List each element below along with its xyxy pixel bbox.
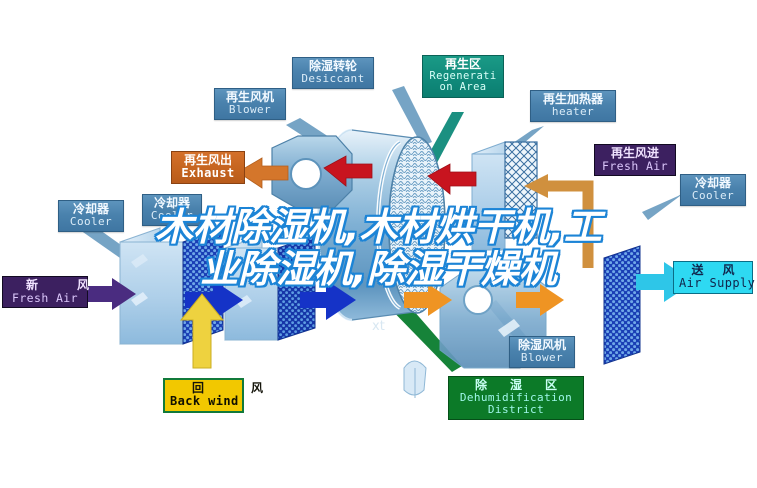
label-regen-heater-cn: 再生加热器 [536,93,610,106]
label-regen-fresh-air-in[interactable]: 再生风进 Fresh Air [594,144,676,176]
label-regen-blower-cn: 再生风机 [220,91,280,104]
label-cooler-right-cn: 冷却器 [686,177,740,190]
label-dehumidification-district[interactable]: 除 湿 区 Dehumidification District [448,376,584,420]
label-air-supply-cn: 送 风 [679,264,747,277]
label-regen-heater[interactable]: 再生加热器 heater [530,90,616,122]
label-regen-fresh-air-in-en: Fresh Air [600,160,670,172]
label-fresh-air-in-en: Fresh Air [8,292,82,304]
label-regen-blower[interactable]: 再生风机 Blower [214,88,286,120]
label-air-supply-en: Air Supply [679,277,747,290]
label-cooler-left[interactable]: 冷却器 Cooler [58,200,124,232]
label-dehum-blower-en: Blower [515,352,569,364]
label-desiccant-wheel-en: Desiccant [298,73,368,85]
label-regeneration-area-cn: 再生区 [428,58,498,71]
label-exhaust-en: Exhaust [177,167,239,180]
label-air-supply[interactable]: 送 风 Air Supply [673,261,753,294]
svg-text:xt: xt [372,319,385,334]
label-exhaust-cn: 再生风出 [177,154,239,167]
label-cooler-right[interactable]: 冷却器 Cooler [680,174,746,206]
label-fresh-air-in-cn: 新 风 [8,279,82,292]
rotor-purge-segment [404,361,426,398]
regeneration-heater [472,142,537,250]
label-dehum-blower[interactable]: 除湿风机 Blower [509,336,575,368]
label-cooler-left-cn: 冷却器 [64,203,118,216]
label-dehumidification-district-cn: 除 湿 区 [454,379,578,392]
label-cooler-right-en: Cooler [686,190,740,202]
label-desiccant-wheel[interactable]: 除湿转轮 Desiccant [292,57,374,89]
label-cooler-mid-en: Cooler [148,210,196,222]
label-cooler-left-en: Cooler [64,216,118,228]
label-dehum-blower-cn: 除湿风机 [515,339,569,352]
label-regeneration-area[interactable]: 再生区 Regenerati on Area [422,55,504,98]
label-back-wind-cn: 回 风 [170,382,237,395]
schematic-artwork: xt [0,0,757,488]
label-fresh-air-in[interactable]: 新 风 Fresh Air [2,276,88,308]
label-regen-blower-en: Blower [220,104,280,116]
label-regen-fresh-air-in-cn: 再生风进 [600,147,670,160]
label-regen-heater-en: heater [536,106,610,118]
dehumidifier-schematic-diagram: xt [0,0,757,488]
label-exhaust[interactable]: 再生风出 Exhaust [171,151,245,184]
label-desiccant-wheel-cn: 除湿转轮 [298,60,368,73]
label-regeneration-area-en-2: on Area [428,82,498,93]
label-dehumidification-district-en-2: District [454,404,578,416]
cooler-coil-2 [225,236,315,340]
label-back-wind[interactable]: 回 风 Back wind [163,378,244,413]
label-cooler-mid[interactable]: 冷却器 Cooler [142,194,202,226]
label-back-wind-en: Back wind [170,395,237,408]
label-cooler-mid-cn: 冷却器 [148,197,196,210]
